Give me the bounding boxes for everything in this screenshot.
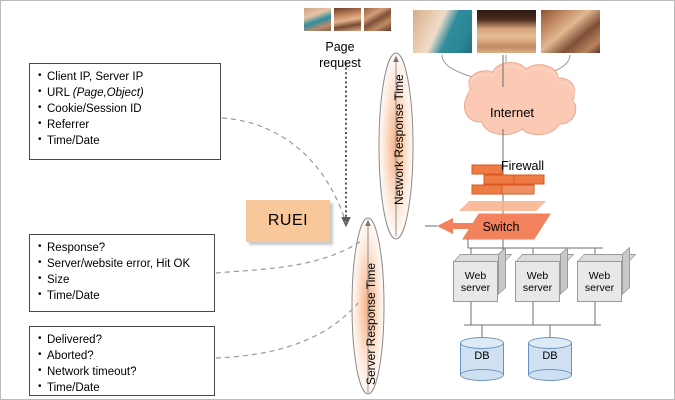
list-item: Response? (38, 240, 208, 256)
request-attributes-list: Client IP, Server IP URL (Page,Object) C… (38, 69, 214, 149)
delivery-attributes-list: Delivered? Aborted? Network timeout? Tim… (38, 332, 208, 396)
switch-label: Switch (467, 219, 535, 235)
list-item: Time/Date (38, 288, 208, 304)
web-server-1: Web server (453, 254, 505, 302)
page-request-label: Page request (301, 39, 379, 71)
server-front-face: Web server (577, 261, 622, 302)
list-item: Referrer (38, 117, 214, 133)
web-server-label-line2: server (461, 282, 490, 294)
ruei-box: RUEI (246, 200, 330, 242)
request-attributes-box: Client IP, Server IP URL (Page,Object) C… (29, 63, 221, 160)
url-label: URL (47, 87, 73, 99)
database-2: DB (528, 337, 572, 381)
response-attributes-box: Response? Server/website error, Hit OK S… (29, 234, 215, 312)
list-item: Server/website error, Hit OK (38, 256, 208, 272)
internet-label: Internet (456, 105, 568, 121)
user-photo-small-2 (333, 7, 362, 32)
delivery-attributes-box: Delivered? Aborted? Network timeout? Tim… (29, 326, 215, 396)
list-item: Time/Date (38, 133, 214, 149)
database-label: DB (528, 350, 572, 362)
list-item: Size (38, 272, 208, 288)
web-server-3: Web server (577, 254, 629, 302)
web-server-label-line1: Web (527, 270, 548, 282)
page-request-line1: Page (301, 39, 379, 55)
web-server-label-line1: Web (589, 270, 610, 282)
user-photo-large-2 (476, 9, 537, 54)
list-item: URL (Page,Object) (38, 85, 214, 101)
server-side-face (560, 247, 568, 295)
server-side-face (498, 247, 506, 295)
diagram-canvas: Client IP, Server IP URL (Page,Object) C… (0, 0, 675, 400)
server-side-face (622, 247, 630, 295)
db-top-cap (460, 337, 504, 349)
server-front-face: Web server (453, 261, 498, 302)
user-photo-small-1 (303, 7, 332, 32)
server-front-face: Web server (515, 261, 560, 302)
list-item: Time/Date (38, 380, 208, 396)
ruei-label: RUEI (268, 212, 308, 230)
network-response-time-label: Network Response Time (392, 74, 406, 205)
user-photo-large-3 (540, 9, 601, 54)
db-bottom-cap (528, 369, 572, 381)
list-item: Cookie/Session ID (38, 101, 214, 117)
user-photo-large-1 (412, 9, 473, 54)
firewall-label: Firewall (501, 158, 544, 174)
list-item: Delivered? (38, 332, 208, 348)
web-server-label-line2: server (523, 282, 552, 294)
database-1: DB (460, 337, 504, 381)
database-label: DB (460, 350, 504, 362)
web-server-2: Web server (515, 254, 567, 302)
server-response-time-label: Server Response Time (364, 263, 378, 385)
page-request-line2: request (301, 55, 379, 71)
user-photo-small-3 (363, 7, 392, 32)
internet-cloud (465, 63, 576, 135)
list-item: Network timeout? (38, 364, 208, 380)
web-server-label-line1: Web (465, 270, 486, 282)
web-server-label-line2: server (585, 282, 614, 294)
response-attributes-list: Response? Server/website error, Hit OK S… (38, 240, 208, 304)
url-params: (Page,Object) (73, 87, 144, 99)
list-item: Aborted? (38, 348, 208, 364)
db-bottom-cap (460, 369, 504, 381)
db-top-cap (528, 337, 572, 349)
list-item: Client IP, Server IP (38, 69, 214, 85)
